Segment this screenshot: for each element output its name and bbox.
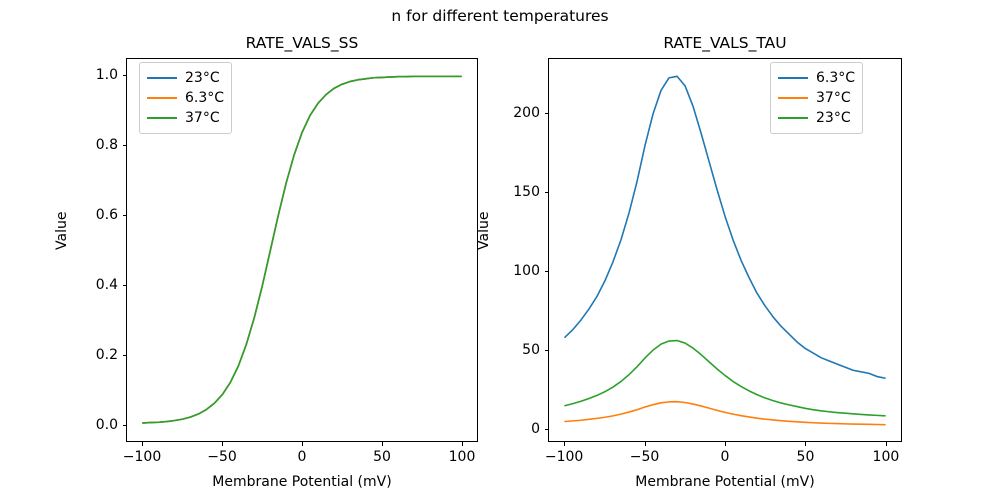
legend-entry[interactable]: 6.3°C (147, 88, 224, 108)
legend-entry[interactable]: 37°C (147, 108, 224, 128)
axes-title-right: RATE_VALS_TAU (549, 33, 901, 53)
y-tick-label: 0 (486, 421, 540, 437)
y-tick-mark (545, 350, 549, 351)
y-tick-mark (123, 425, 127, 426)
y-axis-label: Value (54, 212, 71, 250)
x-tick-mark (725, 442, 726, 446)
legend-entry[interactable]: 6.3°C (778, 68, 855, 88)
legend-color-swatch (147, 117, 177, 119)
y-tick-label: 150 (486, 184, 540, 200)
x-tick-mark (462, 442, 463, 446)
x-axis-label: Membrane Potential (mV) (126, 474, 478, 491)
y-tick-mark (123, 285, 127, 286)
legend-color-swatch (147, 77, 177, 79)
axes-title-left: RATE_VALS_SS (127, 33, 477, 53)
y-tick-label: 0.4 (64, 277, 118, 293)
x-tick-mark (302, 442, 303, 446)
legend-color-swatch (778, 117, 808, 119)
legend-label: 6.3°C (185, 90, 224, 106)
matplotlib-figure: n for different temperatures RATE_VALS_S… (0, 0, 1000, 500)
y-tick-mark (545, 271, 549, 272)
legend-color-swatch (147, 97, 177, 99)
y-tick-label: 100 (486, 263, 540, 279)
y-tick-label: 0.0 (64, 417, 118, 433)
x-axis-label: Membrane Potential (mV) (548, 474, 902, 491)
legend-label: 23°C (185, 70, 220, 86)
legend-color-swatch (778, 77, 808, 79)
y-tick-mark (545, 192, 549, 193)
x-tick-label: 100 (449, 449, 476, 465)
x-tick-mark (564, 442, 565, 446)
series-line (565, 341, 885, 416)
y-tick-mark (545, 113, 549, 114)
x-tick-label: 100 (873, 449, 900, 465)
x-tick-label: 0 (298, 449, 307, 465)
x-tick-label: 0 (721, 449, 730, 465)
y-tick-label: 0.2 (64, 347, 118, 363)
x-tick-label: −100 (545, 449, 583, 465)
legend-entry[interactable]: 37°C (778, 88, 855, 108)
y-tick-mark (545, 429, 549, 430)
legend-color-swatch (778, 97, 808, 99)
y-tick-mark (123, 215, 127, 216)
y-tick-label: 1.0 (64, 67, 118, 83)
y-tick-mark (123, 75, 127, 76)
legend-label: 6.3°C (816, 70, 855, 86)
y-tick-label: 50 (486, 342, 540, 358)
y-axis-label: Value (476, 212, 493, 250)
legend-entry[interactable]: 23°C (778, 108, 855, 128)
x-tick-mark (142, 442, 143, 446)
x-tick-mark (805, 442, 806, 446)
x-tick-mark (645, 442, 646, 446)
legend-label: 23°C (816, 110, 851, 126)
legend-label: 37°C (185, 110, 220, 126)
x-tick-mark (222, 442, 223, 446)
figure-suptitle: n for different temperatures (0, 6, 1000, 26)
x-tick-label: −50 (207, 449, 237, 465)
legend-entry[interactable]: 23°C (147, 68, 224, 88)
y-tick-label: 0.8 (64, 137, 118, 153)
x-tick-label: −50 (630, 449, 660, 465)
legend-right[interactable]: 6.3°C37°C23°C (770, 62, 863, 134)
y-tick-mark (123, 355, 127, 356)
x-tick-mark (382, 442, 383, 446)
x-tick-mark (886, 442, 887, 446)
x-tick-label: −100 (123, 449, 161, 465)
y-tick-mark (123, 145, 127, 146)
x-tick-label: 50 (797, 449, 815, 465)
legend-label: 37°C (816, 90, 851, 106)
x-tick-label: 50 (373, 449, 391, 465)
y-tick-label: 200 (486, 105, 540, 121)
y-tick-label: 0.6 (64, 207, 118, 223)
legend-left[interactable]: 23°C6.3°C37°C (139, 62, 232, 134)
